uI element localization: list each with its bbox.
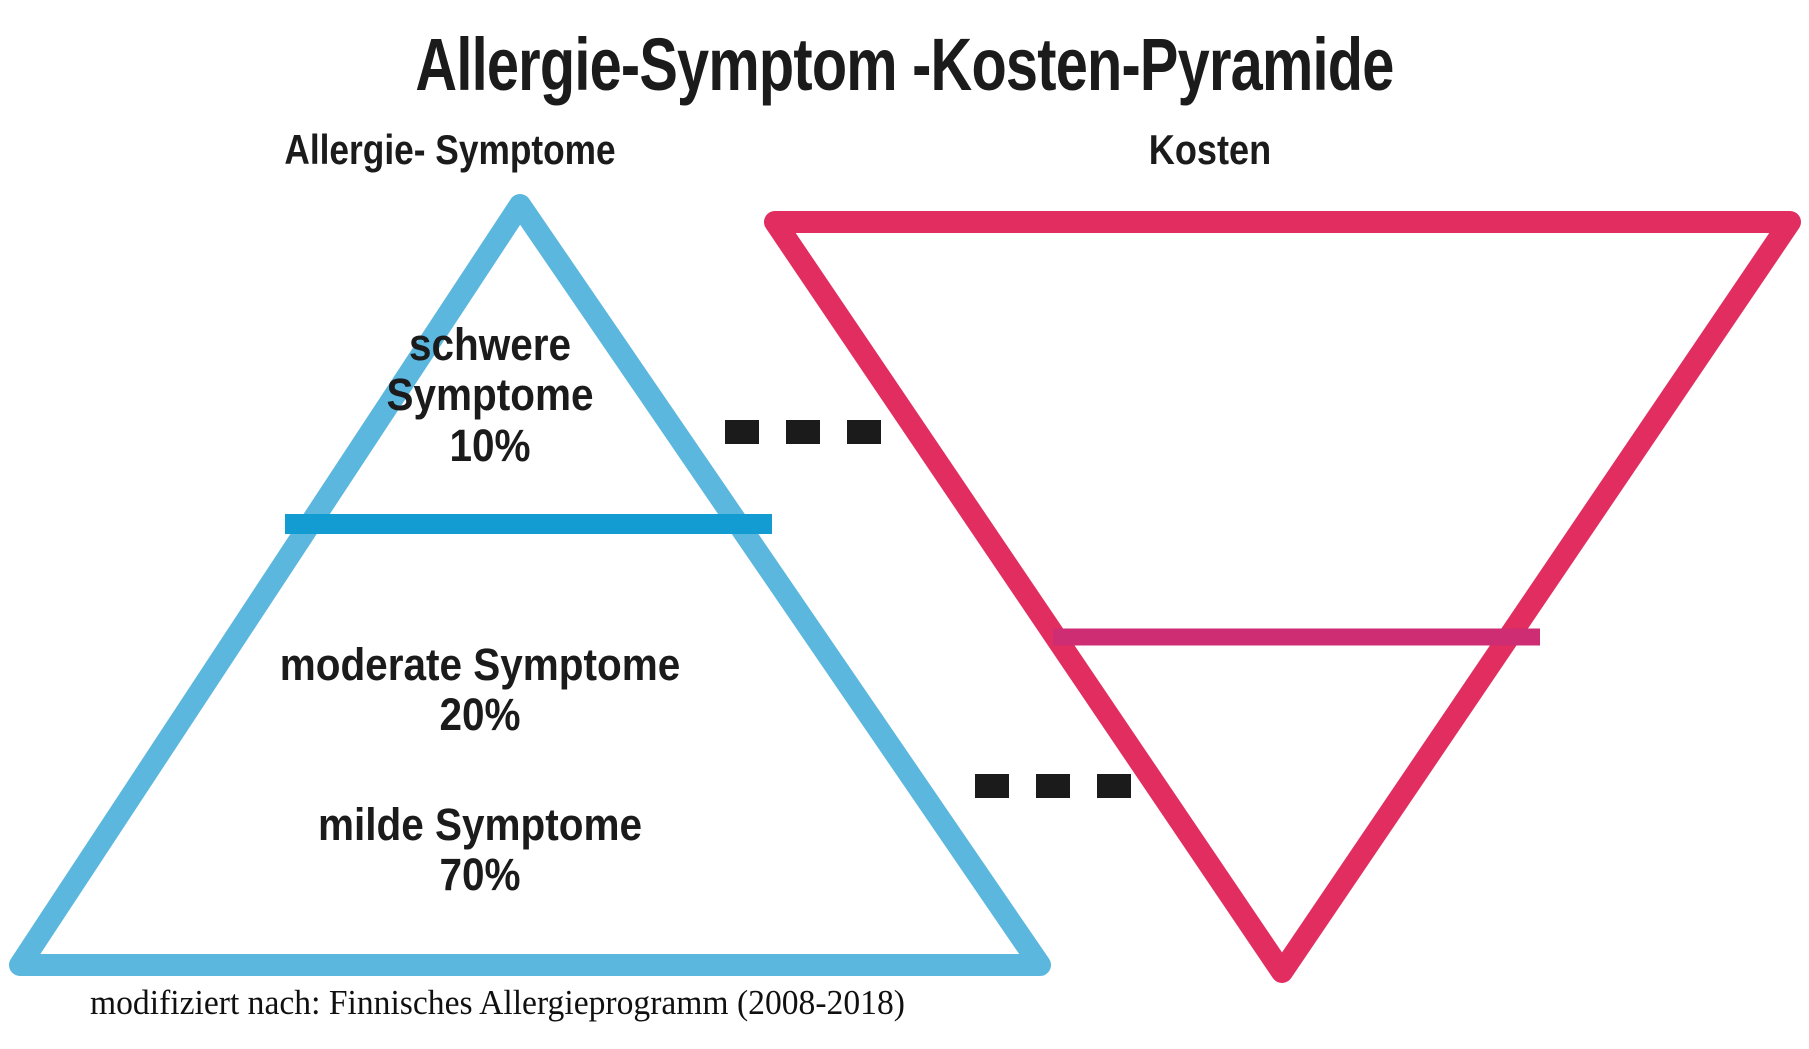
tier-severe-line2: Symptome <box>310 370 670 420</box>
connector-dashes-lower <box>975 774 1131 798</box>
tier-severe-line1: schwere <box>310 320 670 370</box>
tier-moderate-line1: moderate Symptome <box>183 640 777 690</box>
tier-label-severe: schwere Symptome 10% <box>290 320 690 471</box>
diagram-canvas: Allergie-Symptom -Kosten-Pyramide Allerg… <box>0 0 1809 1049</box>
connector-dashes-upper <box>725 420 881 444</box>
tier-label-moderate: moderate Symptome 20% <box>150 640 810 741</box>
tier-mild-line1: milde Symptome <box>183 800 777 850</box>
tier-severe-percent: 10% <box>310 421 670 471</box>
cost-pyramid-triangle <box>775 222 1790 972</box>
tier-mild-percent: 70% <box>183 850 777 900</box>
source-footnote: modifiziert nach: Finnisches Allergiepro… <box>90 983 905 1023</box>
tier-moderate-percent: 20% <box>183 690 777 740</box>
tier-label-mild: milde Symptome 70% <box>150 800 810 901</box>
